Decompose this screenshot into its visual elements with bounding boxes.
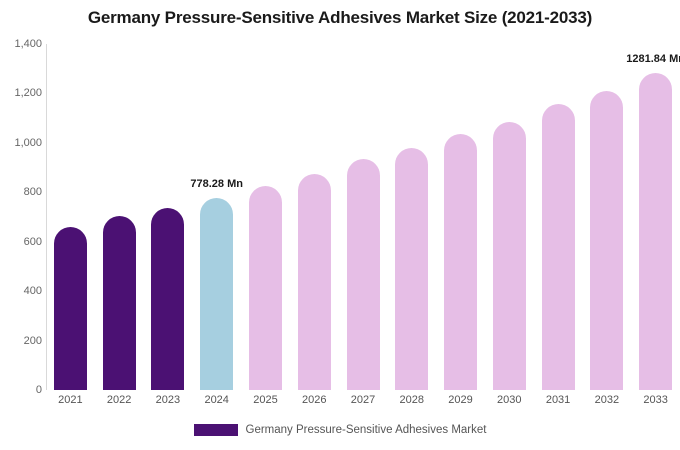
x-axis-tick-2032: 2032 <box>595 394 619 406</box>
y-axis-tick-label: 1,200 <box>4 87 42 99</box>
x-axis-tick-2021: 2021 <box>58 394 82 406</box>
chart-title: Germany Pressure-Sensitive Adhesives Mar… <box>0 8 680 28</box>
bar-rect-2028[interactable] <box>395 148 428 390</box>
x-axis-tick-2025: 2025 <box>253 394 277 406</box>
bar-2023[interactable] <box>151 44 184 390</box>
bar-2028[interactable] <box>395 44 428 390</box>
x-axis-tick-2029: 2029 <box>448 394 472 406</box>
bar-rect-2031[interactable] <box>542 104 575 390</box>
bar-2021[interactable] <box>54 44 87 390</box>
bar-rect-2030[interactable] <box>493 122 526 390</box>
bar-rect-2029[interactable] <box>444 134 477 390</box>
bar-rect-2024[interactable] <box>200 198 233 390</box>
y-axis-tick-label: 1,000 <box>4 137 42 149</box>
bar-2030[interactable] <box>493 44 526 390</box>
chart-legend: Germany Pressure-Sensitive Adhesives Mar… <box>0 424 680 436</box>
bar-rect-2026[interactable] <box>298 174 331 390</box>
bar-rect-2022[interactable] <box>103 216 136 390</box>
bar-2033[interactable] <box>639 44 672 390</box>
bar-2022[interactable] <box>103 44 136 390</box>
bar-rect-2027[interactable] <box>347 159 380 390</box>
bar-2025[interactable] <box>249 44 282 390</box>
x-axis-tick-2026: 2026 <box>302 394 326 406</box>
y-axis-tick-label: 1,400 <box>4 38 42 50</box>
bar-2026[interactable] <box>298 44 331 390</box>
x-axis-tick-2024: 2024 <box>204 394 228 406</box>
x-axis-tick-2033: 2033 <box>643 394 667 406</box>
plot-area: 778.28 Mn1281.84 Mn <box>46 44 680 390</box>
x-axis-tick-2022: 2022 <box>107 394 131 406</box>
bar-rect-2021[interactable] <box>54 227 87 390</box>
x-axis-tick-2031: 2031 <box>546 394 570 406</box>
chart-container: Germany Pressure-Sensitive Adhesives Mar… <box>0 0 680 450</box>
x-axis-tick-2030: 2030 <box>497 394 521 406</box>
bar-2024[interactable] <box>200 44 233 390</box>
y-axis-tick-label: 400 <box>4 285 42 297</box>
bar-rect-2033[interactable] <box>639 73 672 390</box>
y-axis-tick-label: 600 <box>4 236 42 248</box>
y-axis-tick-label: 800 <box>4 186 42 198</box>
legend-label-market: Germany Pressure-Sensitive Adhesives Mar… <box>246 424 487 436</box>
bar-value-label-2024: 778.28 Mn <box>190 178 243 190</box>
bar-2032[interactable] <box>590 44 623 390</box>
bar-value-label-2033: 1281.84 Mn <box>626 53 680 65</box>
bar-2029[interactable] <box>444 44 477 390</box>
bar-2031[interactable] <box>542 44 575 390</box>
bar-rect-2032[interactable] <box>590 91 623 390</box>
y-axis-tick-label: 0 <box>4 384 42 396</box>
x-axis-tick-2028: 2028 <box>400 394 424 406</box>
x-axis-tick-2023: 2023 <box>156 394 180 406</box>
bar-rect-2023[interactable] <box>151 208 184 390</box>
x-axis-tick-2027: 2027 <box>351 394 375 406</box>
y-axis-tick-label: 200 <box>4 335 42 347</box>
bar-2027[interactable] <box>347 44 380 390</box>
x-axis-labels: 2021202220232024202520262027202820292030… <box>46 394 680 414</box>
y-axis-labels: 02004006008001,0001,2001,400 <box>0 0 42 450</box>
bar-rect-2025[interactable] <box>249 186 282 390</box>
legend-swatch-market <box>194 424 238 436</box>
